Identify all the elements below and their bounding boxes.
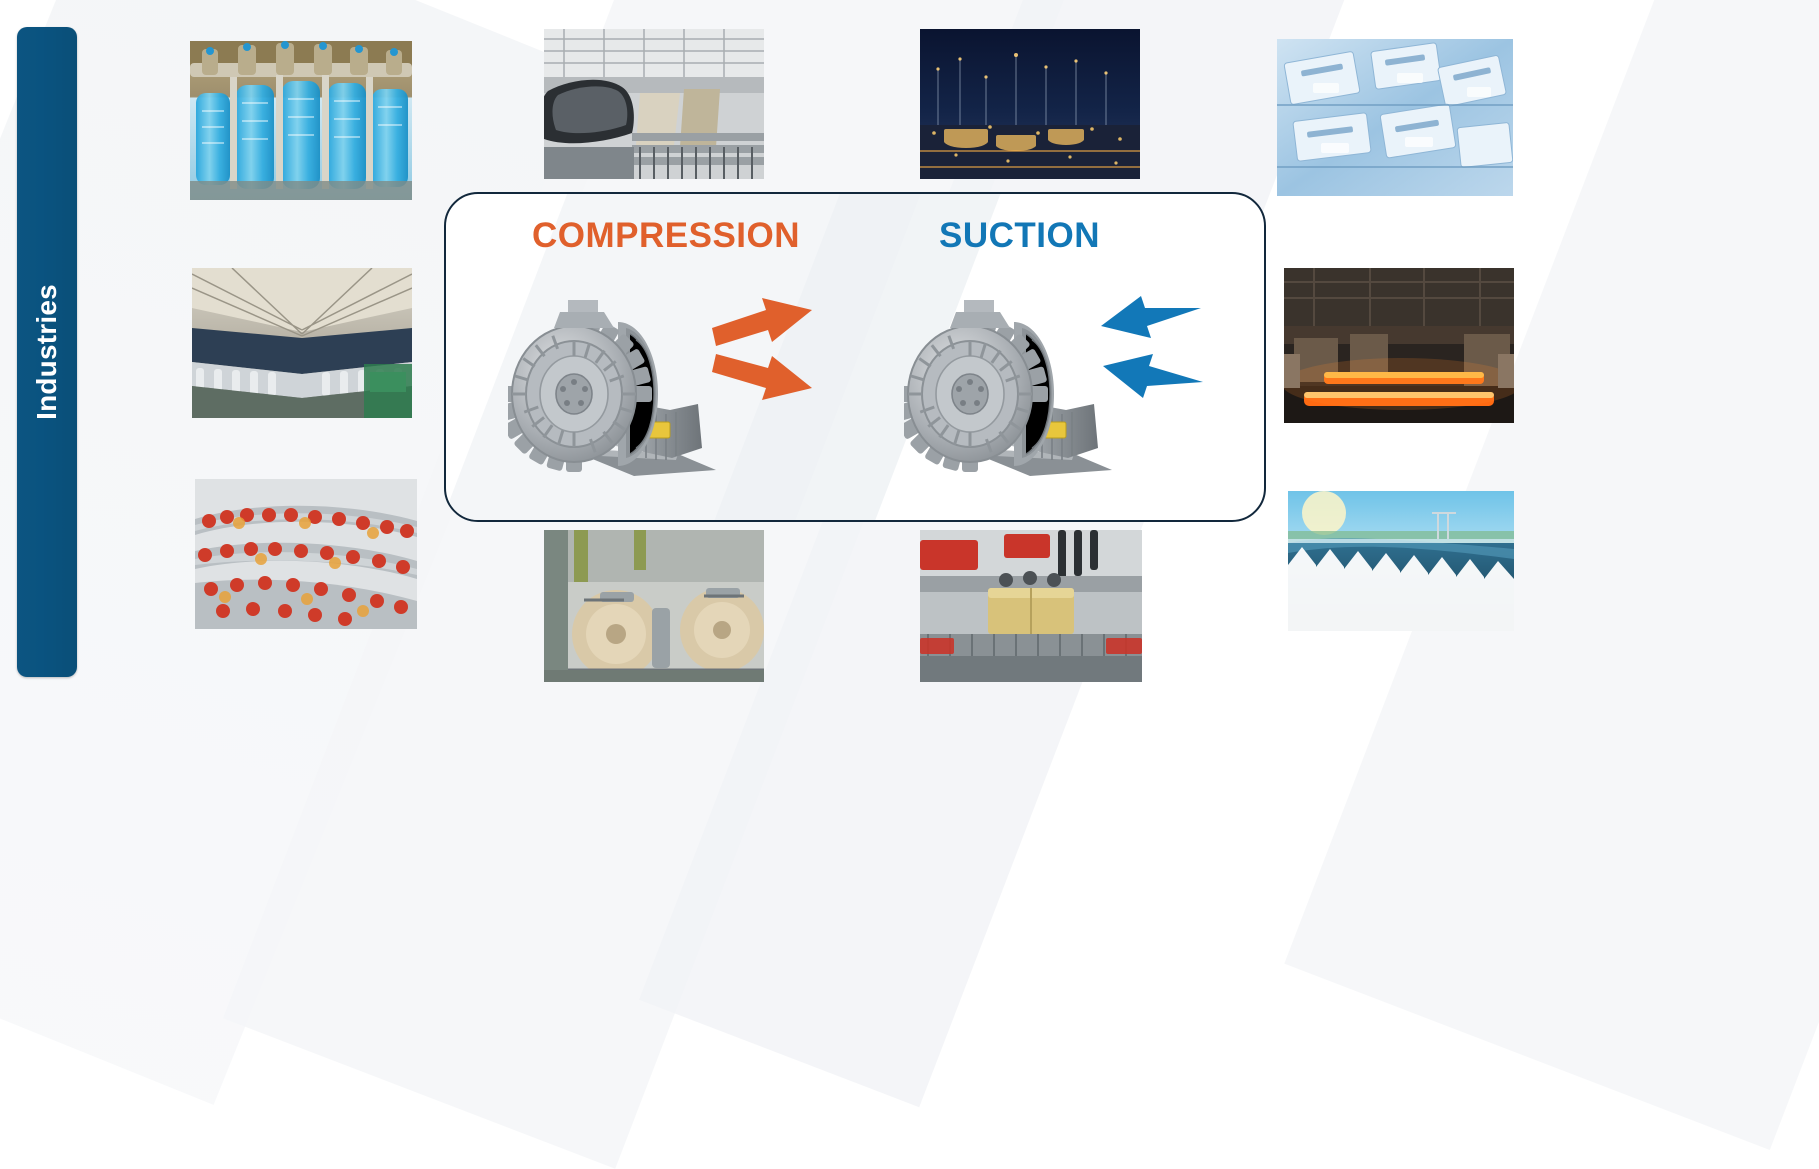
- suction-arrows: [1091, 290, 1206, 425]
- outward-arrows-icon: [708, 294, 818, 424]
- blue-machinery-image: [1277, 39, 1513, 196]
- photo-food-processing: [195, 479, 417, 629]
- photo-oil-and-gas-refinery: [920, 29, 1140, 179]
- side-channel-blower-left: [508, 282, 738, 482]
- suction-title: SUCTION: [939, 216, 1100, 256]
- compression-title: COMPRESSION: [532, 216, 800, 256]
- photo-water-treatment: [1288, 491, 1514, 631]
- photo-textile-spinning: [192, 268, 412, 418]
- industries-side-tab[interactable]: Industries: [17, 27, 77, 677]
- packaging-conveyor-image: [920, 530, 1142, 682]
- inward-arrows-icon: [1091, 290, 1206, 420]
- photo-packaging-conveyor: [920, 530, 1142, 682]
- photo-steel-mill: [1284, 268, 1514, 423]
- refinery-night-image: [920, 29, 1140, 179]
- textile-spinning-image: [192, 268, 412, 418]
- compression-arrows: [708, 294, 818, 429]
- automotive-assembly-image: [544, 29, 764, 179]
- photo-paper-and-printing: [544, 530, 764, 682]
- compression-blower-illustration: [508, 282, 738, 487]
- paper-rolls-image: [544, 530, 764, 682]
- water-treatment-image: [1288, 491, 1514, 631]
- photo-electronics-machinery: [1277, 39, 1513, 196]
- photo-automotive-assembly: [544, 29, 764, 179]
- compression-suction-panel: COMPRESSION SUCTION: [444, 192, 1266, 522]
- bottling-line-image: [190, 41, 412, 200]
- steel-mill-image: [1284, 268, 1514, 423]
- apple-conveyor-image: [195, 479, 417, 629]
- photo-beverage-bottling: [190, 41, 412, 200]
- industries-label: Industries: [31, 284, 63, 420]
